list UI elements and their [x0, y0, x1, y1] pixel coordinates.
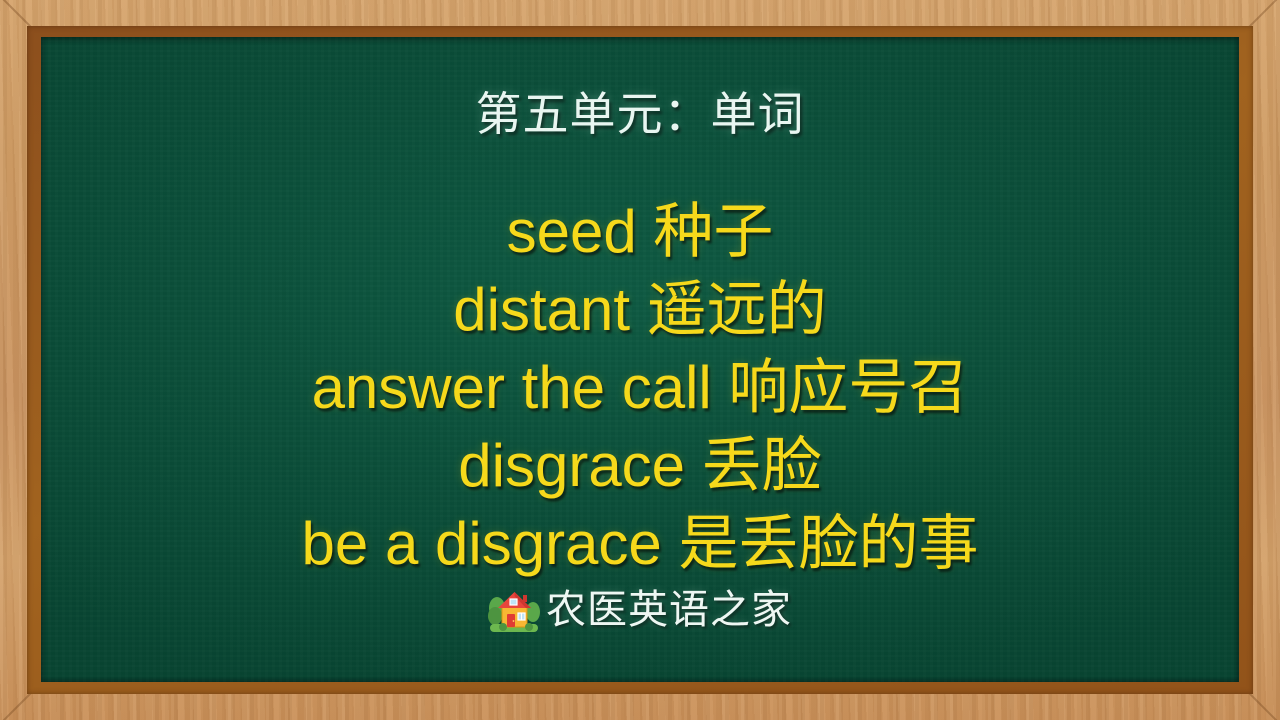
page-title: 第五单元：单词: [41, 89, 1239, 140]
vocabulary-line: disgrace 丢脸: [41, 427, 1239, 505]
vocabulary-line: distant 遥远的: [41, 271, 1239, 349]
vocabulary-line: seed 种子: [41, 193, 1239, 271]
vocabulary-line: answer the call 响应号召: [41, 349, 1239, 427]
vocabulary-line: be a disgrace 是丢脸的事: [41, 505, 1239, 583]
chalkboard-content: 第五单元：单词 seed 种子 distant 遥远的 answer the c…: [41, 37, 1239, 682]
wooden-frame: 第五单元：单词 seed 种子 distant 遥远的 answer the c…: [0, 0, 1280, 720]
frame-inner-bevel: 第五单元：单词 seed 种子 distant 遥远的 answer the c…: [27, 26, 1253, 694]
channel-watermark: 农医英语之家: [41, 586, 1239, 634]
house-with-garden-icon: [488, 586, 540, 634]
chalkboard: 第五单元：单词 seed 种子 distant 遥远的 answer the c…: [41, 37, 1239, 682]
watermark-label: 农医英语之家: [546, 590, 792, 630]
vocabulary-list: seed 种子 distant 遥远的 answer the call 响应号召…: [41, 193, 1239, 583]
